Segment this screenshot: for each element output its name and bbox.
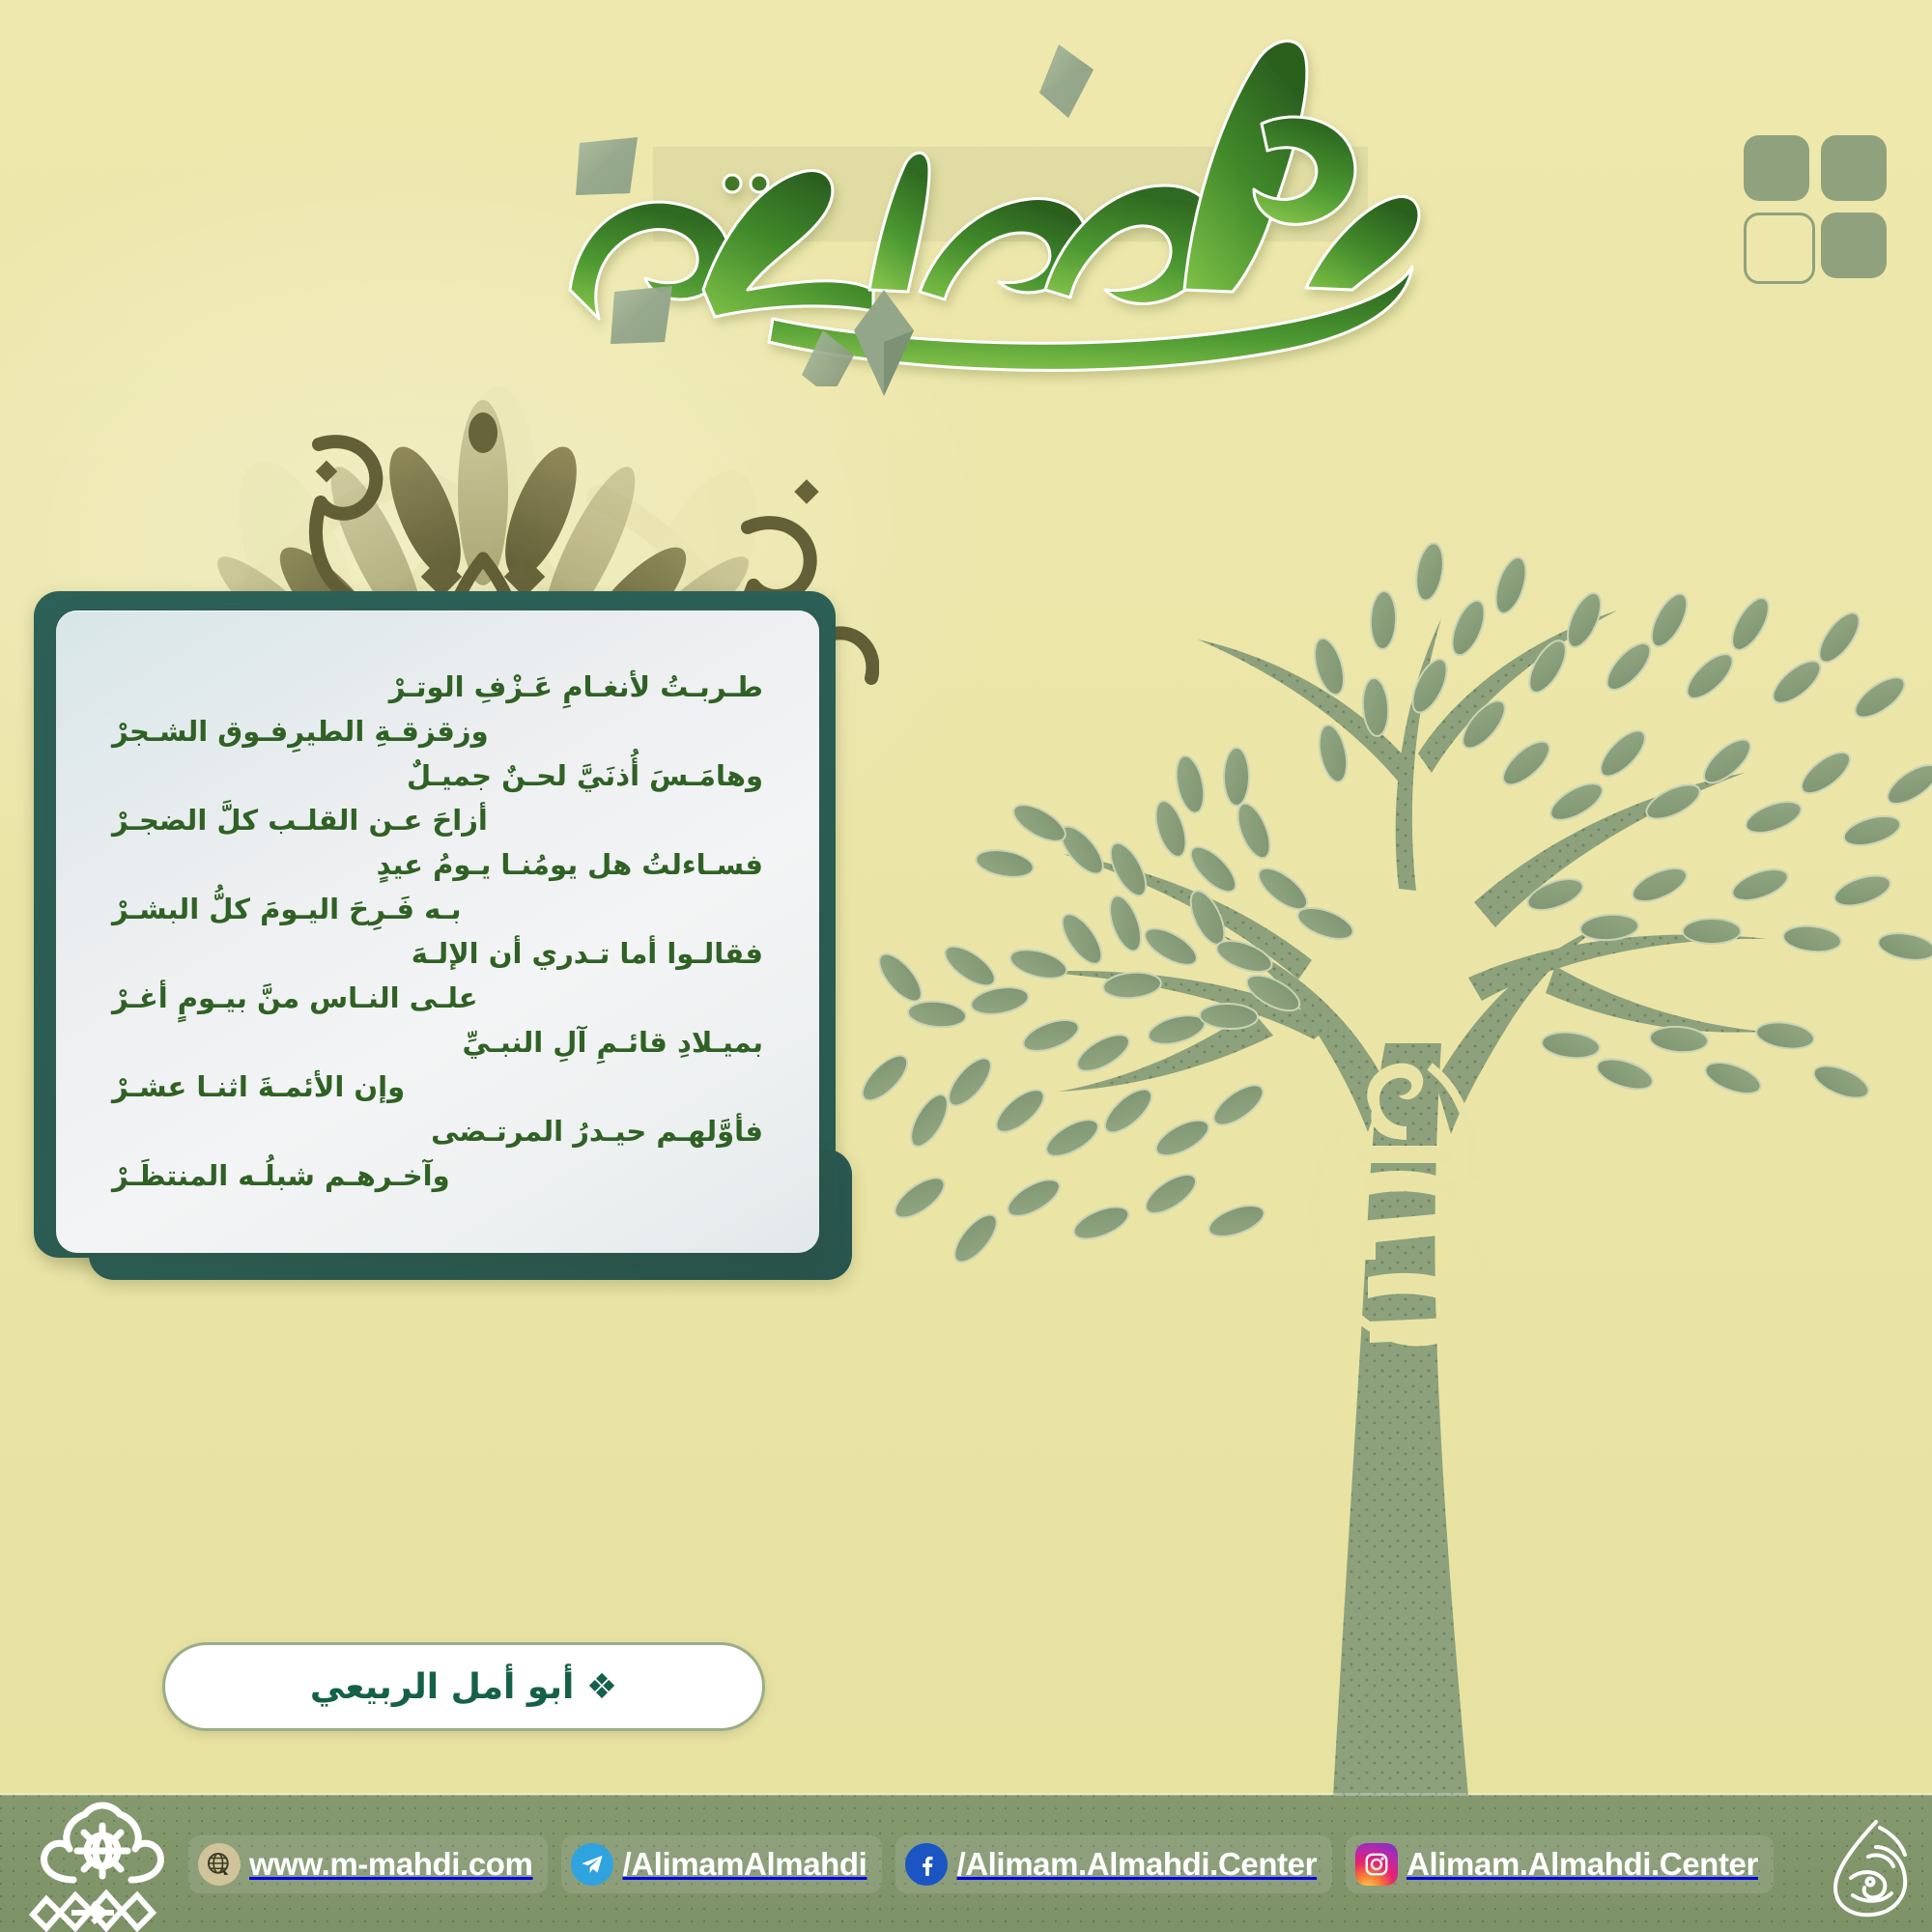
poem-line-1: طـربـتُ لأنغـامِ عَـزْفِ الوتـرْ	[99, 666, 777, 710]
footer-link-telegram-label: /AlimamAlmahdi	[622, 1846, 867, 1883]
footer-link-facebook-label: /Alimam.Almahdi.Center	[956, 1846, 1317, 1883]
poem-line-7: فقالـوا أما تـدري أن الإلـهَ	[99, 932, 777, 977]
poem-line-2: وزقزقـةِ الطيرِفـوق الشـجرْ	[99, 710, 777, 754]
poem-card: طـربـتُ لأنغـامِ عَـزْفِ الوتـرْ وزقزقـة…	[56, 611, 819, 1253]
decor-square-4	[1821, 213, 1887, 278]
instagram-icon	[1355, 1843, 1398, 1886]
poem-line-4: أزاحَ عـن القلـب كلَّ الضجـرْ	[99, 799, 777, 843]
decor-square-3	[1744, 213, 1815, 284]
globe-icon	[198, 1843, 241, 1886]
footer-top-edge	[0, 1793, 1932, 1796]
poem-line-10: وإن الأئمـةَ اثنـا عشـرْ	[99, 1065, 777, 1110]
poem-line-6: بـه فَـرِحَ اليـومَ كلُّ البشـرْ	[99, 888, 777, 932]
author-pill: ❖ أبو أمل الربيعي	[162, 1642, 765, 1731]
footer-link-website[interactable]: www.m-mahdi.com	[188, 1835, 548, 1893]
decor-square-2	[1821, 135, 1887, 201]
poem-line-12: وآخـرهـم شبلُـه المنتظَـرْ	[99, 1154, 777, 1199]
poem-line-3: وهامَـسَ أُذنَيَّ لحـنٌ جميـلٌ	[99, 754, 777, 799]
poem-line-8: علـى النـاس منَّ بيـومٍ أغـرْ	[99, 977, 777, 1021]
poem-line-9: بميـلادِ قائـمِ آلِ النبـيِّ	[99, 1021, 777, 1065]
footer-link-facebook[interactable]: /Alimam.Almahdi.Center	[895, 1835, 1332, 1893]
footer-social-links: www.m-mahdi.com /AlimamAlmahdi /Alimam.A…	[188, 1833, 1774, 1895]
footer-link-instagram-label: Alimam.Almahdi.Center	[1406, 1846, 1758, 1883]
facebook-icon	[905, 1843, 948, 1886]
poem-line-5: فسـاءلتُ هل يومُنـا يـومُ عيدٍ	[99, 843, 777, 888]
footer-link-telegram[interactable]: /AlimamAlmahdi	[561, 1835, 882, 1893]
author-name: ❖ أبو أمل الربيعي	[310, 1667, 617, 1707]
telegram-icon	[571, 1843, 613, 1886]
footer-link-instagram[interactable]: Alimam.Almahdi.Center	[1346, 1835, 1774, 1893]
poster-canvas: طـربـتُ لأنغـامِ عَـزْفِ الوتـرْ وزقزقـة…	[0, 0, 1932, 1932]
poem-line-11: فأوَّلهـم حيـدرُ المرتـضى	[99, 1110, 777, 1154]
imam-almahdi-center-logo	[14, 1797, 187, 1932]
olive-tree-illustration	[792, 348, 1932, 1797]
footer-link-website-label: www.m-mahdi.com	[249, 1846, 532, 1883]
decor-square-grid	[1744, 135, 1893, 285]
decor-square-1	[1744, 135, 1809, 201]
arabic-calligraphy-seal	[1814, 1814, 1922, 1922]
